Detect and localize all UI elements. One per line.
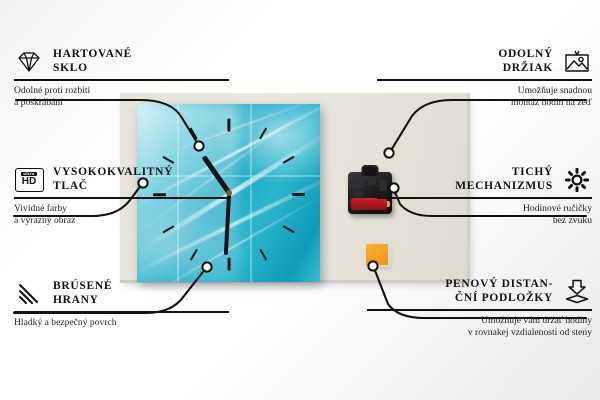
feature-sub-line1: Vividné farby: [14, 203, 229, 215]
feature-sub-line2: bez zvuku: [377, 215, 592, 227]
feature-titles: BRÚSENÉ HRANY: [53, 280, 112, 307]
clock-grid-line: [250, 104, 252, 282]
feature-sub-line2: montáž hodin na zeď: [377, 97, 592, 109]
feature-titles: ODOLNÝ DRŽIAK: [498, 48, 553, 75]
mechanism-shaft-icon: [362, 165, 379, 176]
feature-sub-line2: v rovnakej vzdialenosti od steny: [367, 327, 592, 339]
feature-title-line1: HARTOVANÉ: [53, 48, 132, 62]
feature-title-line2: TLAČ: [53, 180, 173, 194]
feature-divider: [14, 197, 229, 199]
clock-center-pin: [226, 190, 232, 196]
feature-title-line1: VYSOKOKVALITNÝ: [53, 166, 173, 180]
feature-sub-line1: Odolné proti rozbití: [14, 85, 229, 97]
feature-title-line2: SKLO: [53, 62, 132, 76]
feature-title-line1: BRÚSENÉ: [53, 280, 112, 294]
feature-sub-line2: a poškrábání: [14, 97, 229, 109]
feature-title-line1: PENOVÝ DISTAN-: [445, 278, 553, 292]
feature-titles: HARTOVANÉ SKLO: [53, 48, 132, 75]
feature-divider: [367, 309, 592, 311]
feature-sub-line2: a výrazný obraz: [14, 215, 229, 227]
feature-title-line1: TICHÝ: [455, 166, 553, 180]
ultra-hd-icon: ultra HD: [14, 167, 44, 193]
feature-divider: [14, 311, 229, 313]
feature-divider: [377, 197, 592, 199]
mechanism-detail: [353, 191, 363, 197]
foam-spacer-icon: [562, 279, 592, 305]
feature-title-line1: ODOLNÝ: [498, 48, 553, 62]
ultra-hd-icon-bottom: HD: [22, 177, 36, 187]
feature-divider: [14, 79, 229, 81]
feature-titles: TICHÝ MECHANIZMUS: [455, 166, 553, 193]
foam-spacer-pad: [366, 244, 388, 265]
feature-title-line2: DRŽIAK: [498, 62, 553, 76]
feature-title-line2: ČNÍ PODLOŽKY: [445, 292, 553, 306]
gear-icon: [562, 167, 592, 193]
clock-tick: [227, 119, 230, 132]
feature-header: HARTOVANÉ SKLO: [14, 48, 229, 75]
feature-block-glass: HARTOVANÉ SKLO Odolné proti rozbití a po…: [14, 48, 229, 109]
clock-tick: [283, 225, 295, 233]
feature-header: ODOLNÝ DRŽIAK: [377, 48, 592, 75]
clock-tick: [227, 258, 230, 271]
feature-header: BRÚSENÉ HRANY: [14, 280, 229, 307]
clock-tick: [259, 248, 267, 260]
feature-title-line2: MECHANIZMUS: [455, 180, 553, 194]
feature-titles: VYSOKOKVALITNÝ TLAČ: [53, 166, 173, 193]
clock-tick: [292, 193, 305, 196]
feature-block-foam: PENOVÝ DISTAN- ČNÍ PODLOŽKY Umožňuje vám…: [367, 278, 592, 339]
feature-title-line2: HRANY: [53, 294, 112, 308]
beveled-edges-icon: [14, 281, 44, 307]
feature-sub-line1: Umožňuje vám držať hodiny: [367, 315, 592, 327]
mechanism-detail: [352, 180, 364, 188]
picture-hanger-icon: [562, 49, 592, 75]
feature-header: ultra HD VYSOKOKVALITNÝ TLAČ: [14, 166, 229, 193]
mechanism-detail: [368, 179, 376, 185]
feature-sub-line1: Hodinové ručičky: [377, 203, 592, 215]
feature-block-mechanism: TICHÝ MECHANIZMUS Hodinové ručičky bez z…: [377, 166, 592, 227]
feature-sub-line1: Umožňuje snadnou: [377, 85, 592, 97]
diamond-icon: [14, 49, 44, 75]
infographic-stage: HARTOVANÉ SKLO Odolné proti rozbití a po…: [0, 0, 600, 400]
feature-header: TICHÝ MECHANIZMUS: [377, 166, 592, 193]
feature-divider: [377, 79, 592, 81]
feature-block-edges: BRÚSENÉ HRANY Hladký a bezpečný povrch: [14, 280, 229, 329]
feature-sub-line1: Hladký a bezpečný povrch: [14, 317, 229, 329]
feature-block-print: ultra HD VYSOKOKVALITNÝ TLAČ Vividné far…: [14, 166, 229, 227]
feature-titles: PENOVÝ DISTAN- ČNÍ PODLOŽKY: [445, 278, 553, 305]
feature-header: PENOVÝ DISTAN- ČNÍ PODLOŽKY: [367, 278, 592, 305]
feature-block-holder: ODOLNÝ DRŽIAK Umožňuje snadnou montáž ho…: [377, 48, 592, 109]
